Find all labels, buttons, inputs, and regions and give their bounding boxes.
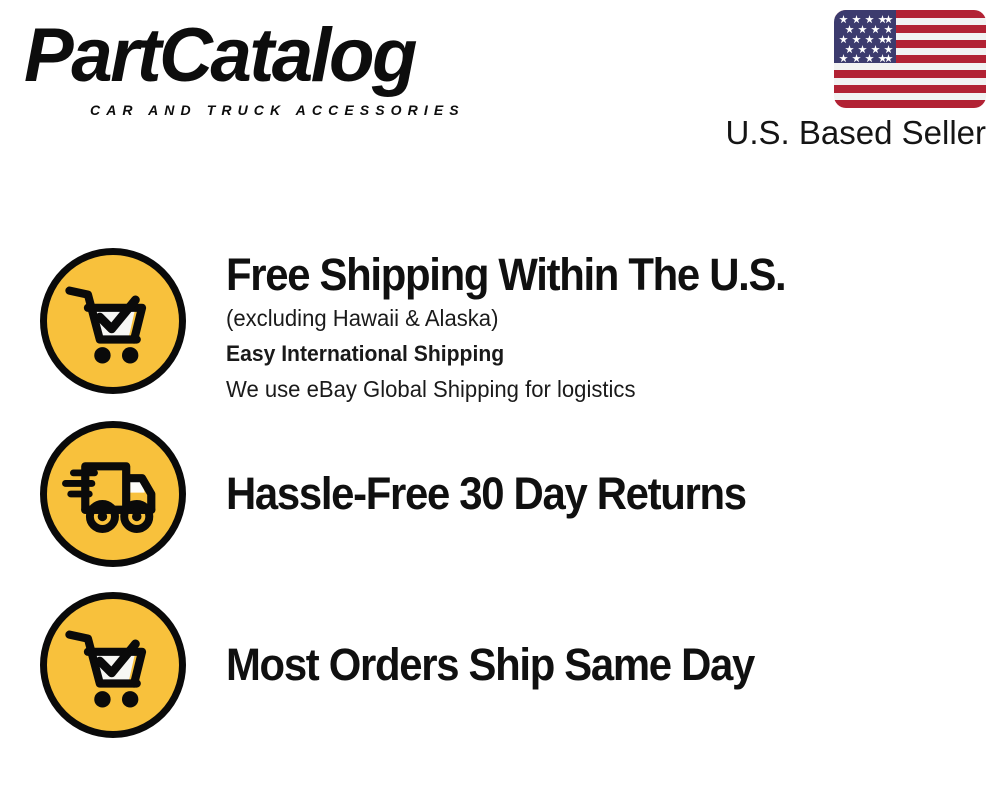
feature-subtitle: (excluding Hawaii & Alaska): [226, 302, 803, 335]
brand-logo: PartCatalog CAR AND TRUCK ACCESSORIES: [24, 14, 494, 114]
feature-text-block: Most Orders Ship Same Day: [226, 592, 794, 692]
feature-subtitle-bold: Easy International Shipping: [226, 335, 803, 373]
brand-tagline: CAR AND TRUCK ACCESSORIES: [90, 102, 465, 118]
shopping-cart-check-icon: [40, 248, 186, 394]
feature-text-block: Free Shipping Within The U.S. (excluding…: [226, 248, 828, 406]
flag-star: [839, 35, 848, 44]
us-based-seller-label: U.S. Based Seller: [716, 114, 986, 152]
flag-star: [865, 54, 874, 63]
flag-stripe: [834, 70, 986, 78]
flag-star: [884, 25, 893, 34]
feature-title: Hassle-Free 30 Day Returns: [226, 467, 746, 521]
flag-star: [865, 35, 874, 44]
promo-banner: PartCatalog CAR AND TRUCK ACCESSORIES: [0, 0, 1000, 800]
flag-star: [845, 45, 854, 54]
flag-star: [878, 15, 887, 24]
feature-title: Free Shipping Within The U.S.: [226, 248, 785, 302]
feature-row: Hassle-Free 30 Day Returns: [40, 421, 785, 567]
brand-wordmark: PartCatalog: [24, 14, 415, 98]
flag-star: [839, 54, 848, 63]
flag-canton: [834, 10, 896, 63]
feature-subtitle-detail: We use eBay Global Shipping for logistic…: [226, 373, 803, 406]
feature-title: Most Orders Ship Same Day: [226, 638, 754, 692]
feature-row: Most Orders Ship Same Day: [40, 592, 794, 738]
flag-star: [852, 54, 861, 63]
us-based-seller-block: U.S. Based Seller: [716, 10, 986, 152]
us-flag-icon: [834, 10, 986, 108]
flag-star: [884, 35, 893, 44]
flag-stripe: [834, 100, 986, 108]
flag-star: [884, 45, 893, 54]
feature-row: Free Shipping Within The U.S. (excluding…: [40, 248, 828, 406]
flag-star: [858, 25, 867, 34]
flag-star: [884, 15, 893, 24]
flag-stripe: [834, 63, 986, 71]
shopping-cart-check-icon: [40, 592, 186, 738]
flag-star: [878, 35, 887, 44]
flag-star: [865, 15, 874, 24]
flag-star: [884, 54, 893, 63]
feature-text-block: Hassle-Free 30 Day Returns: [226, 421, 785, 521]
flag-star: [852, 15, 861, 24]
flag-stripe: [834, 78, 986, 86]
flag-star: [871, 45, 880, 54]
flag-star: [858, 45, 867, 54]
flag-star: [852, 35, 861, 44]
flag-star: [839, 15, 848, 24]
flag-star: [878, 54, 887, 63]
flag-star: [845, 25, 854, 34]
delivery-truck-icon: [40, 421, 186, 567]
flag-stripe: [834, 85, 986, 93]
flag-stripe: [834, 93, 986, 101]
flag-star: [871, 25, 880, 34]
